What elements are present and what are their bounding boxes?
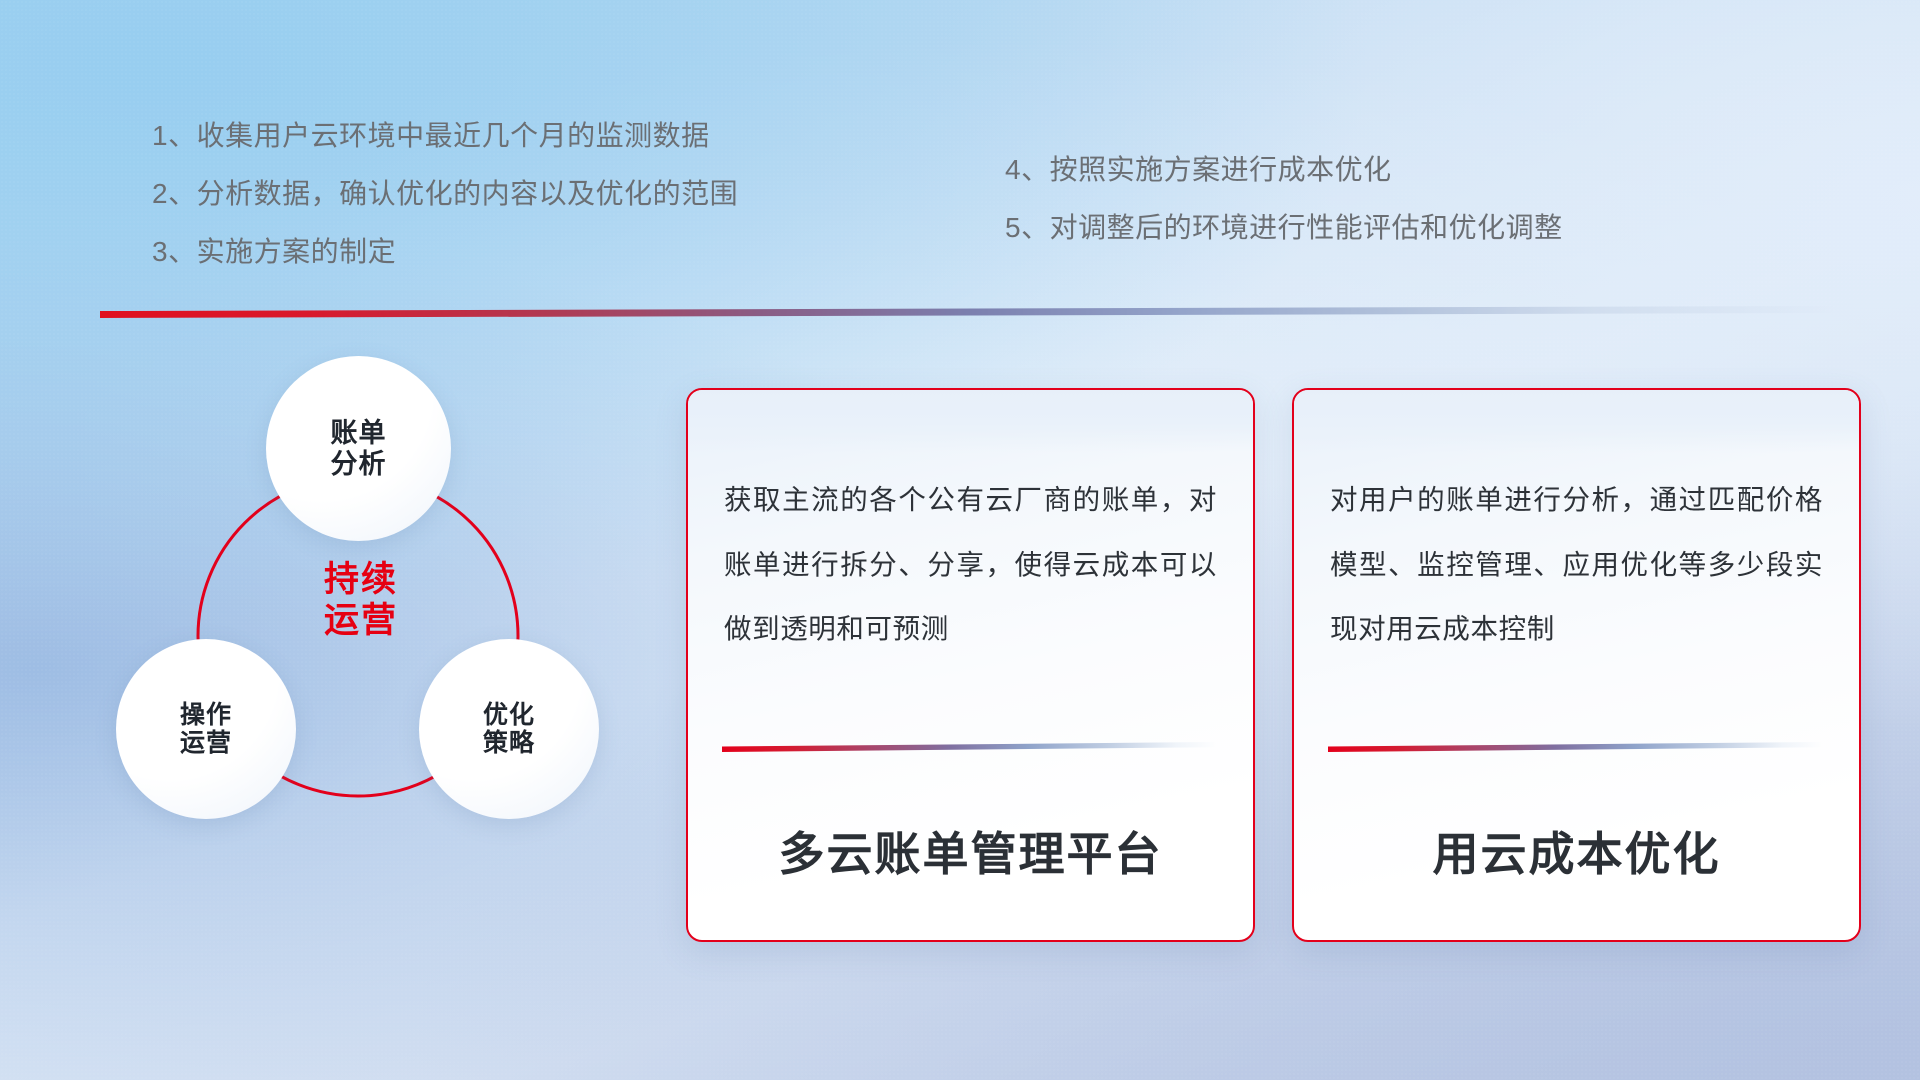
steps-right-column: 4、按照实施方案进行成本优化 5、对调整后的环境进行性能评估和优化调整 [1005, 156, 1563, 242]
step-item: 5、对调整后的环境进行性能评估和优化调整 [1005, 214, 1563, 242]
card-description: 获取主流的各个公有云厂商的账单，对账单进行拆分、分享，使得云成本可以做到透明和可… [688, 390, 1253, 662]
steps-left-column: 1、收集用户云环境中最近几个月的监测数据 2、分析数据，确认优化的内容以及优化的… [152, 122, 738, 266]
card-divider-bar [1328, 742, 1822, 752]
card-divider-bar [722, 742, 1216, 752]
card-divider [722, 742, 1216, 752]
cycle-center-label: 持续 运营 [256, 536, 466, 666]
cycle-node-label-line1: 操作 [180, 701, 232, 730]
card-title: 用云成本优化 [1294, 818, 1859, 884]
card-title: 多云账单管理平台 [688, 818, 1253, 884]
cycle-node-label-line1: 优化 [483, 701, 535, 730]
card-description: 对用户的账单进行分析，通过匹配价格模型、监控管理、应用优化等多少段实现对用云成本… [1294, 390, 1859, 662]
step-item: 1、收集用户云环境中最近几个月的监测数据 [152, 122, 738, 150]
step-item: 2、分析数据，确认优化的内容以及优化的范围 [152, 180, 738, 208]
feature-card[interactable]: 获取主流的各个公有云厂商的账单，对账单进行拆分、分享，使得云成本可以做到透明和可… [686, 388, 1255, 942]
section-divider [100, 306, 1835, 318]
cycle-diagram: 账单 分析 操作 运营 优化 策略 持续 运营 [96, 356, 656, 956]
cycle-node-billing-analysis[interactable]: 账单 分析 [266, 356, 451, 541]
cycle-node-label-line1: 账单 [331, 418, 387, 449]
cycle-node-label-line2: 运营 [180, 729, 232, 758]
feature-card[interactable]: 对用户的账单进行分析，通过匹配价格模型、监控管理、应用优化等多少段实现对用云成本… [1292, 388, 1861, 942]
cycle-node-label-line2: 分析 [331, 449, 387, 480]
step-item: 4、按照实施方案进行成本优化 [1005, 156, 1563, 184]
cycle-node-operations[interactable]: 操作 运营 [116, 639, 296, 819]
cycle-node-label-line2: 策略 [483, 729, 535, 758]
cycle-center-line1: 持续 [324, 560, 398, 601]
slide-canvas: 1、收集用户云环境中最近几个月的监测数据 2、分析数据，确认优化的内容以及优化的… [0, 0, 1920, 1080]
step-item: 3、实施方案的制定 [152, 238, 738, 266]
divider-bar [100, 306, 1835, 318]
cycle-node-optimization-strategy[interactable]: 优化 策略 [419, 639, 599, 819]
cycle-center-line2: 运营 [324, 601, 398, 642]
card-divider [1328, 742, 1822, 752]
